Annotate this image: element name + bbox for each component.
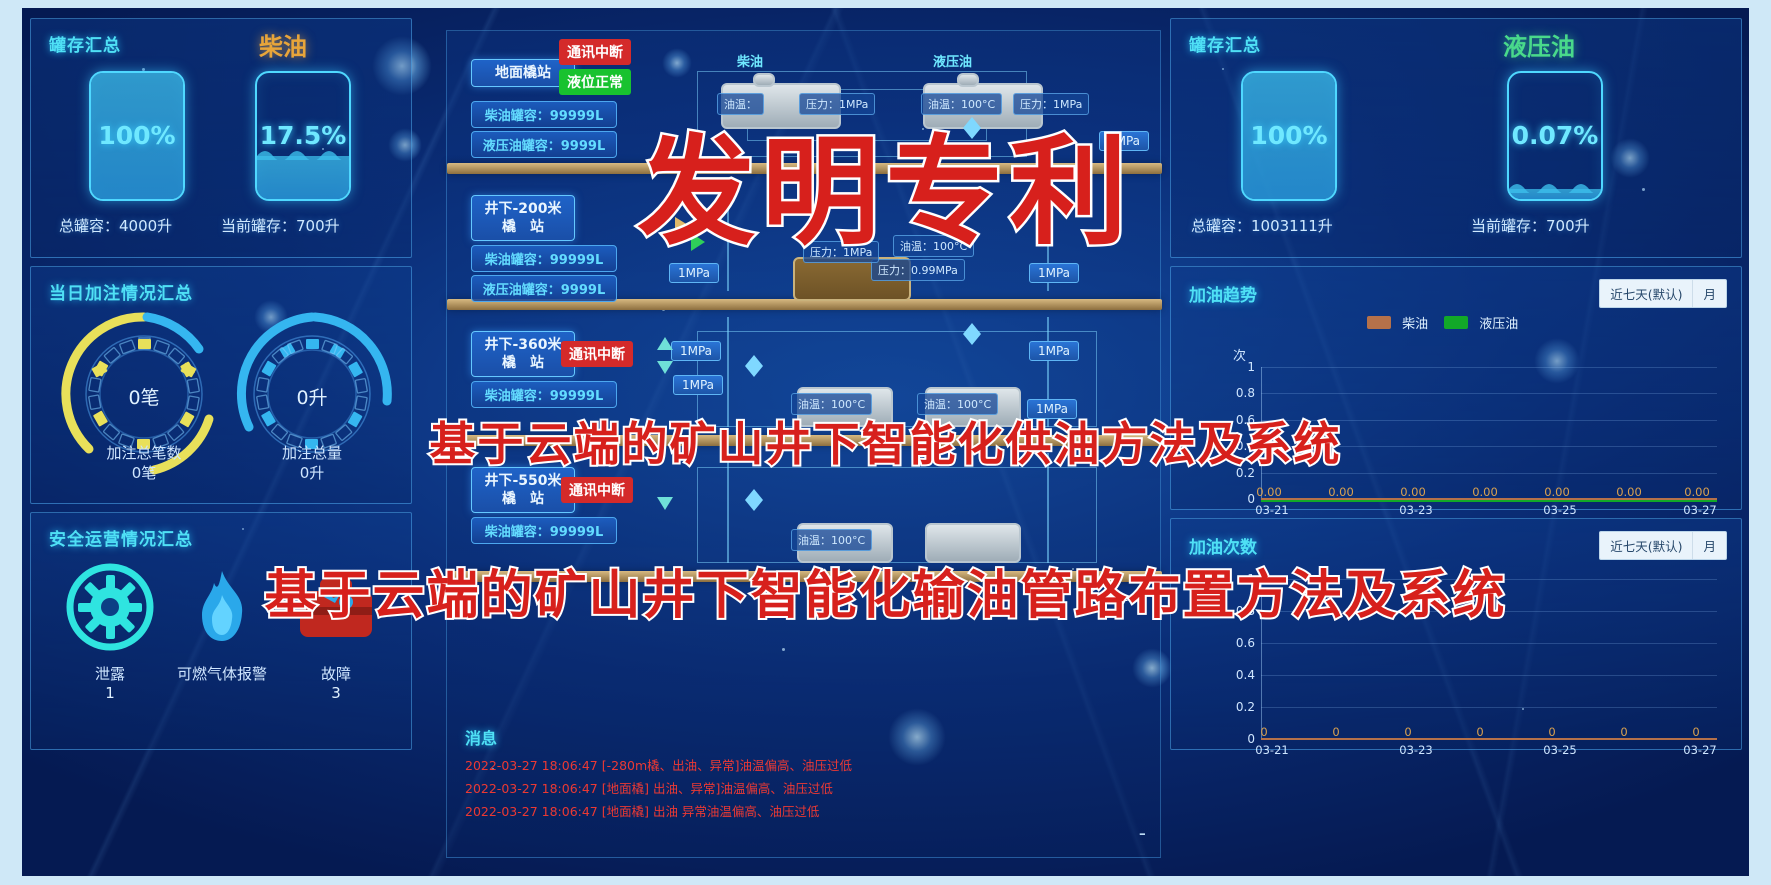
message-panel: 消息 2022-03-27 18:06:47 [-280m橇、出油、异常]油温偏…	[451, 721, 1151, 851]
ring-label-line2: 0升	[232, 463, 392, 483]
ring-label-line1: 加注总笔数	[64, 443, 224, 463]
diesel-total-caption: 总罐容：4000升	[59, 215, 172, 236]
tank-neck-icon	[957, 73, 979, 87]
hydraulic-current-caption: 当前罐存：700升	[1471, 215, 1590, 236]
corner-decoration	[1720, 18, 1742, 40]
corner-decoration	[1720, 728, 1742, 750]
screenshot-root: 罐存汇总 柴油 100% 总罐容：4000升 17.5% 当前罐存：700升	[0, 0, 1771, 885]
range-selector-count[interactable]: 近七天(默认) 月	[1599, 531, 1727, 560]
panel-diesel-inventory: 罐存汇总 柴油 100% 总罐容：4000升 17.5% 当前罐存：700升	[30, 18, 412, 258]
pressure-tag-6: 1MPa	[1029, 341, 1079, 361]
diesel-total-tank-gauge: 100%	[89, 71, 185, 201]
station-name-line2: 橇 站	[482, 354, 564, 372]
chart-point-label: 0	[1609, 725, 1639, 739]
chart-point-label: 0.00	[1393, 485, 1433, 499]
station-name-line1: 井下-360米	[482, 336, 564, 354]
station-name-line2: 橇 站	[482, 218, 564, 236]
corner-decoration	[390, 236, 412, 258]
watermark-line-2: 基于云端的矿山井下智能化输油管路布置方法及系统	[264, 553, 1506, 628]
chart-ytick: 0.4	[1221, 668, 1255, 682]
chart-gridline	[1261, 367, 1717, 368]
chart-point-label: 0.00	[1537, 485, 1577, 499]
chart-ytick: 0.2	[1221, 700, 1255, 714]
station-name-line2: 橇 站	[482, 490, 564, 508]
station-info-diesel-360: 柴油罐容：99999L	[471, 381, 617, 408]
safety-label-leak: 泄露	[45, 663, 175, 684]
chart-gridline	[1261, 393, 1717, 394]
tank-fill-wavy	[1509, 189, 1601, 199]
legend-swatch-hydraulic	[1444, 316, 1468, 329]
tank-fill-wavy	[257, 156, 349, 199]
ring-label-line1: 加注总量	[232, 443, 392, 463]
chart-point-label: 0	[1465, 725, 1495, 739]
chart-xtick: 03-21	[1249, 743, 1295, 757]
zoom-out-button[interactable]: -	[1139, 821, 1146, 845]
corner-decoration	[1170, 728, 1192, 750]
range-selector-trend[interactable]: 近七天(默认) 月	[1599, 279, 1727, 308]
hydraulic-current-tank-gauge: 0.07%	[1507, 71, 1603, 201]
chart-xtick: 03-21	[1249, 503, 1295, 517]
station-info-diesel-surface: 柴油罐容：99999L	[471, 101, 617, 128]
safety-count-fault: 3	[271, 684, 401, 702]
station-info-diesel-550: 柴油罐容：99999L	[471, 517, 617, 544]
chart-point-label: 0	[1321, 725, 1351, 739]
watermark-line-1: 基于云端的矿山井下智能化供油方法及系统	[430, 408, 1342, 474]
diesel-current-tank-gauge: 17.5%	[255, 71, 351, 201]
chart-ytick: 0.8	[1221, 386, 1255, 400]
chart-xtick: 03-23	[1393, 503, 1439, 517]
corner-decoration	[30, 728, 52, 750]
hydraulic-total-tank-gauge: 100%	[1241, 71, 1337, 201]
chart-gridline	[1261, 707, 1717, 708]
station-name-line1: 井下-550米	[482, 472, 564, 490]
chart-xtick: 03-25	[1537, 743, 1583, 757]
chart-point-label: 0.00	[1677, 485, 1717, 499]
station-info-hydraulic-surface: 液压油罐容：9999L	[471, 131, 617, 158]
schematic-loop-3	[697, 467, 1097, 563]
chart-point-label: 0	[1537, 725, 1567, 739]
diesel-heading: 柴油	[259, 27, 307, 62]
message-panel-title: 消息	[451, 721, 1151, 753]
chart-title-trend: 加油趋势	[1189, 281, 1257, 306]
corner-decoration	[30, 482, 52, 504]
range-tab-week[interactable]: 近七天(默认)	[1600, 532, 1693, 559]
tank-neck-icon	[753, 73, 775, 87]
legend-item-hydraulic: 液压油	[1444, 313, 1518, 332]
chart-point-label: 0.00	[1465, 485, 1505, 499]
station-badge-comm-360: 通讯中断	[561, 341, 633, 367]
chart-xtick: 03-27	[1677, 743, 1723, 757]
safety-label-fault: 故障	[271, 663, 401, 684]
flame-icon	[176, 561, 268, 653]
chart-ytick: 0.6	[1221, 636, 1255, 650]
message-row: 2022-03-27 18:06:47 [地面橇] 出油、异常]油温偏高、油压过…	[451, 776, 1151, 799]
message-row: 2022-03-27 18:06:47 [地面橇] 出油 异常油温偏高、油压过低	[451, 799, 1151, 822]
legend-item-diesel: 柴油	[1367, 313, 1428, 332]
station-name-line1: 井下-200米	[482, 200, 564, 218]
panel-title: 罐存汇总	[49, 31, 121, 56]
chart-xtick: 03-27	[1677, 503, 1723, 517]
ring-value-count: 0笔	[59, 383, 229, 410]
pressure-tag-5: 1MPa	[673, 375, 723, 395]
chart-legend-trend: 柴油 液压油	[1367, 313, 1518, 332]
chart-xtick: 03-23	[1393, 743, 1439, 757]
ring-label-volume: 加注总量 0升	[232, 443, 392, 483]
panel-title: 安全运营情况汇总	[49, 525, 193, 550]
chart-xtick: 03-25	[1537, 503, 1583, 517]
pressure-tag-4: 1MPa	[671, 341, 721, 361]
chart-point-label: 0.00	[1249, 485, 1289, 499]
panel-hydraulic-inventory: 罐存汇总 液压油 100% 总罐容：1003111升 0.07% 当前罐存：70…	[1170, 18, 1742, 258]
sensor-tag-oil-temp-550a: 油温：100°C	[791, 529, 872, 551]
tank-percent: 100%	[1243, 121, 1335, 150]
corner-decoration	[390, 18, 412, 40]
tank-percent: 17.5%	[257, 121, 349, 150]
tank-percent: 100%	[91, 121, 183, 150]
message-row: 2022-03-27 18:06:47 [-280m橇、出油、异常]油温偏高、油…	[451, 753, 1151, 776]
range-tab-month[interactable]: 月	[1693, 532, 1726, 559]
corner-decoration	[1170, 488, 1192, 510]
safety-item-leak: 泄露 1	[45, 561, 175, 702]
ring-label-count: 加注总笔数 0笔	[64, 443, 224, 483]
panel-title: 当日加注情况汇总	[49, 279, 193, 304]
chart-point-label: 0	[1681, 725, 1711, 739]
station-label-200[interactable]: 井下-200米 橇 站	[471, 195, 575, 241]
diesel-current-caption: 当前罐存：700升	[221, 215, 340, 236]
watermark-title: 发明专利	[637, 96, 1133, 267]
station-badge-comm-surface: 通讯中断	[559, 39, 631, 65]
range-tab-week[interactable]: 近七天(默认)	[1600, 280, 1693, 307]
corner-decoration	[390, 512, 412, 534]
corner-decoration	[390, 266, 412, 288]
legend-swatch-diesel	[1367, 316, 1391, 329]
legend-label-diesel: 柴油	[1402, 317, 1428, 332]
hydraulic-heading: 液压油	[1503, 27, 1575, 62]
station-badge-level-surface: 液位正常	[559, 69, 631, 95]
station-label-360[interactable]: 井下-360米 橇 站	[471, 331, 575, 377]
range-tab-month[interactable]: 月	[1693, 280, 1726, 307]
flow-arrow-down-1	[657, 361, 673, 374]
tank-label-diesel: 柴油	[737, 51, 763, 70]
panel-title: 罐存汇总	[1189, 31, 1261, 56]
chart-ytick: 1	[1221, 360, 1255, 374]
hydraulic-total-caption: 总罐容：1003111升	[1191, 215, 1333, 236]
station-info-diesel-200: 柴油罐容：99999L	[471, 245, 617, 272]
legend-label-hydraulic: 液压油	[1479, 317, 1518, 332]
flow-arrow-down-2	[657, 497, 673, 510]
chart-point-label: 0.00	[1609, 485, 1649, 499]
ring-value-volume: 0升	[227, 383, 397, 410]
corner-decoration	[1720, 236, 1742, 258]
chart-point-label: 0	[1393, 725, 1423, 739]
gear-icon	[64, 561, 156, 653]
chart-gridline	[1261, 643, 1717, 644]
panel-daily-refuel-summary: 当日加注情况汇总	[30, 266, 412, 504]
ring-label-line2: 0笔	[64, 463, 224, 483]
flow-arrow-up-1	[657, 337, 673, 350]
tank-label-hydraulic: 液压油	[933, 51, 972, 70]
station-badge-comm-550: 通讯中断	[561, 477, 633, 503]
chart-gridline	[1261, 675, 1717, 676]
chart-point-label: 0	[1249, 725, 1279, 739]
dashboard: 罐存汇总 柴油 100% 总罐容：4000升 17.5% 当前罐存：700升	[22, 8, 1749, 876]
chart-point-label: 0.00	[1321, 485, 1361, 499]
corner-decoration	[1720, 488, 1742, 510]
corner-decoration	[390, 728, 412, 750]
corner-decoration	[390, 482, 412, 504]
wave-icon	[1509, 179, 1603, 193]
chart-series-line-hydraulic	[1261, 500, 1717, 502]
tank-percent: 0.07%	[1509, 121, 1601, 150]
station-info-hydraulic-200: 液压油罐容：9999L	[471, 275, 617, 302]
safety-count-leak: 1	[45, 684, 175, 702]
panel-safety-operation-summary: 安全运营情况汇总	[30, 512, 412, 750]
safety-label-gas-alarm: 可燃气体报警	[157, 663, 287, 684]
corner-decoration	[1170, 236, 1192, 258]
corner-decoration	[30, 236, 52, 258]
